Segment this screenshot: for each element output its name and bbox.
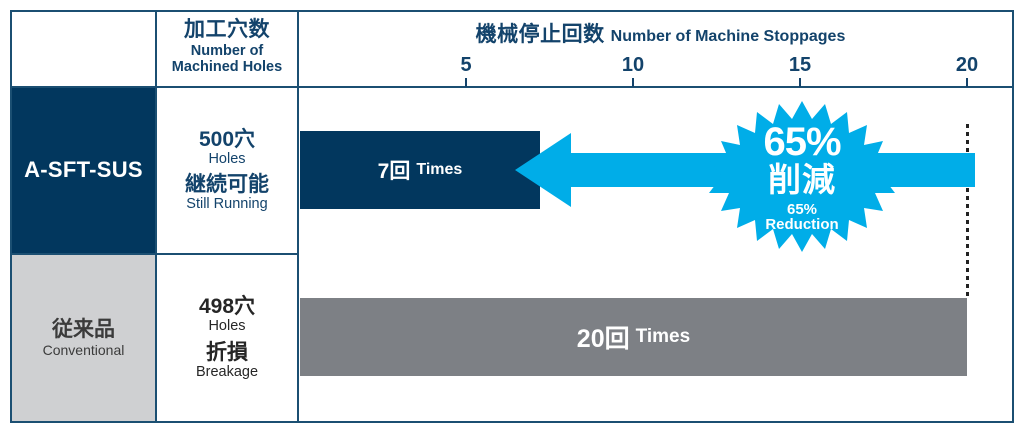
bar-value-conventional: 20回 [577, 319, 630, 355]
header-holes-en-line1: Number of [191, 44, 264, 60]
row-holes-a-sft-sus: 500穴 Holes 継続可能 Still Running [157, 88, 297, 253]
bar-value-a-sft-sus: 7回 [378, 155, 411, 185]
axis-title: 機械停止回数Number of Machine Stoppages [299, 18, 1022, 48]
tick-mark-10 [632, 78, 634, 87]
row-label-conventional-en: Conventional [43, 343, 125, 358]
holes-value-conventional: 498穴 [199, 296, 255, 318]
column-divider-2 [297, 10, 299, 423]
bar-unit-a-sft-sus: Times [416, 161, 462, 179]
starburst-icon [707, 99, 897, 254]
tick-label-15: 15 [789, 54, 811, 77]
tick-mark-20 [966, 78, 968, 87]
row-label-conventional-jp: 従来品 [52, 318, 115, 341]
tick-label-20: 20 [956, 54, 978, 77]
row-label-a-sft-sus: A-SFT-SUS [12, 88, 155, 253]
bar-conventional: 20回 Times [300, 298, 967, 376]
comparison-chart: 加工穴数 Number of Machined Holes 機械停止回数Numb… [0, 0, 1024, 433]
bar-a-sft-sus: 7回 Times [300, 131, 540, 209]
axis-title-en: Number of Machine Stoppages [611, 28, 846, 45]
status-en-a-sft-sus: Still Running [186, 197, 267, 212]
holes-unit-a-sft-sus: Holes [208, 152, 245, 167]
bar-unit-conventional: Times [636, 326, 691, 348]
header-machined-holes: 加工穴数 Number of Machined Holes [157, 10, 297, 84]
header-holes-en-line2: Machined Holes [172, 60, 282, 76]
tick-mark-5 [465, 78, 467, 87]
status-en-conventional: Breakage [196, 365, 258, 380]
tick-mark-15 [799, 78, 801, 87]
tick-label-5: 5 [460, 54, 471, 77]
axis-baseline [299, 86, 1014, 88]
status-jp-a-sft-sus: 継続可能 [185, 174, 269, 196]
holes-value-a-sft-sus: 500穴 [199, 129, 255, 151]
reduction-badge: 65% 削減 65% Reduction [707, 99, 897, 254]
header-holes-jp: 加工穴数 [184, 19, 270, 42]
row-label-conventional: 従来品 Conventional [12, 255, 155, 421]
axis-title-jp: 機械停止回数 [476, 23, 605, 46]
status-jp-conventional: 折損 [206, 342, 248, 364]
holes-unit-conventional: Holes [208, 319, 245, 334]
row-holes-conventional: 498穴 Holes 折損 Breakage [157, 255, 297, 421]
row-label-a-sft-sus-text: A-SFT-SUS [24, 158, 143, 182]
tick-label-10: 10 [622, 54, 644, 77]
